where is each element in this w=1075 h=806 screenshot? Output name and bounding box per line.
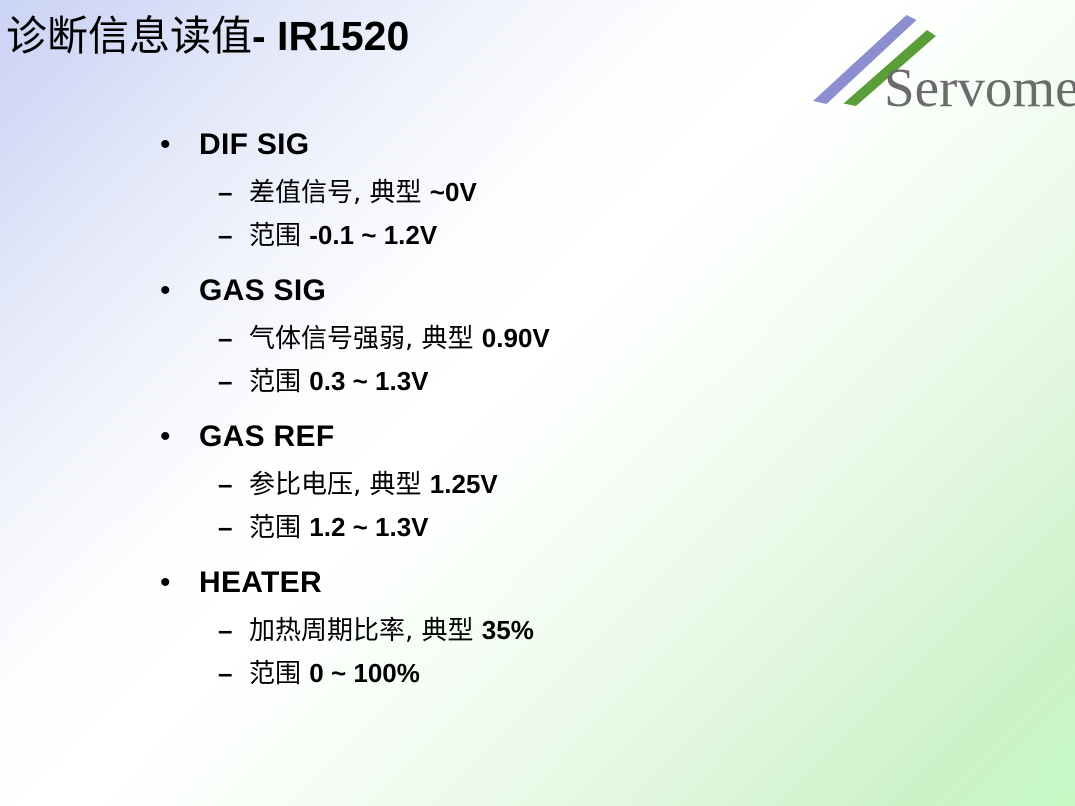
slide-canvas: 诊断信息读值- IR1520 Servomex • DIF SIG – 差值信号… [0, 0, 1075, 806]
sub-text-value: 1.2 ~ 1.3V [309, 512, 428, 542]
sub-text: 范围 0.3 ~ 1.3V [249, 361, 429, 398]
sub-text-value: 0 ~ 100% [309, 658, 420, 688]
sub-row: – 差值信号, 典型 ~0V [155, 172, 995, 215]
sub-text-chinese: 参比电压, 典型 [249, 470, 430, 500]
sub-text: 范围 -0.1 ~ 1.2V [249, 215, 437, 252]
sub-text: 气体信号强弱, 典型 0.90V [249, 318, 550, 355]
sub-dash-icon: – [218, 617, 249, 643]
sub-text-value: ~0V [430, 177, 477, 207]
sub-row: – 气体信号强弱, 典型 0.90V [155, 318, 995, 361]
sub-row: – 范围 -0.1 ~ 1.2V [155, 215, 995, 258]
sub-text-chinese: 范围 [249, 367, 309, 397]
page-title: 诊断信息读值- IR1520 [6, 6, 786, 68]
bullet-row: • GAS REF [155, 420, 995, 464]
sub-row: – 范围 0.3 ~ 1.3V [155, 361, 995, 404]
sub-text-value: -0.1 ~ 1.2V [309, 220, 437, 250]
bullet-label-heater: HEATER [199, 566, 322, 600]
bullet-group-gas-sig: • GAS SIG – 气体信号强弱, 典型 0.90V – 范围 0.3 ~ … [155, 274, 995, 404]
servomex-logo: Servomex [800, 12, 1075, 124]
sub-row: – 范围 0 ~ 100% [155, 653, 995, 696]
sub-row: – 范围 1.2 ~ 1.3V [155, 507, 995, 550]
bullet-dot-icon: • [155, 568, 199, 598]
bullet-label-gas-ref: GAS REF [199, 420, 334, 454]
sub-text-value: 35% [482, 615, 534, 645]
sub-dash-icon: – [218, 325, 249, 351]
sub-dash-icon: – [218, 471, 249, 497]
sub-text: 加热周期比率, 典型 35% [249, 610, 534, 647]
title-model: IR1520 [277, 13, 409, 59]
bullet-group-gas-ref: • GAS REF – 参比电压, 典型 1.25V – 范围 1.2 ~ 1.… [155, 420, 995, 550]
sub-text: 范围 1.2 ~ 1.3V [249, 507, 429, 544]
sub-text-value: 0.90V [482, 323, 550, 353]
bullet-content: • DIF SIG – 差值信号, 典型 ~0V – 范围 -0.1 ~ 1.2… [155, 128, 995, 696]
sub-text-chinese: 差值信号, 典型 [249, 178, 430, 208]
bullet-row: • GAS SIG [155, 274, 995, 318]
bullet-label-dif-sig: DIF SIG [199, 128, 309, 162]
sub-text: 范围 0 ~ 100% [249, 653, 420, 690]
sub-dash-icon: – [218, 514, 249, 540]
sub-text-chinese: 范围 [249, 513, 309, 543]
sub-text-value: 0.3 ~ 1.3V [309, 366, 428, 396]
sub-row: – 参比电压, 典型 1.25V [155, 464, 995, 507]
bullet-dot-icon: • [155, 276, 199, 306]
title-chinese: 诊断信息读值 [6, 12, 252, 60]
bullet-row: • HEATER [155, 566, 995, 610]
sub-text-chinese: 气体信号强弱, 典型 [249, 324, 482, 354]
logo-wordmark: Servomex [884, 57, 1075, 118]
title-text: 诊断信息读值- IR1520 [6, 15, 409, 58]
bullet-label-gas-sig: GAS SIG [199, 274, 326, 308]
sub-dash-icon: – [218, 222, 249, 248]
sub-text-chinese: 加热周期比率, 典型 [249, 616, 482, 646]
bullet-group-heater: • HEATER – 加热周期比率, 典型 35% – 范围 0 ~ 100% [155, 566, 995, 696]
sub-row: – 加热周期比率, 典型 35% [155, 610, 995, 653]
sub-dash-icon: – [218, 179, 249, 205]
title-separator: - [252, 13, 277, 59]
sub-dash-icon: – [218, 660, 249, 686]
bullet-row: • DIF SIG [155, 128, 995, 172]
bullet-group-dif-sig: • DIF SIG – 差值信号, 典型 ~0V – 范围 -0.1 ~ 1.2… [155, 128, 995, 258]
sub-text-value: 1.25V [430, 469, 498, 499]
sub-dash-icon: – [218, 368, 249, 394]
sub-text-chinese: 范围 [249, 659, 309, 689]
bullet-dot-icon: • [155, 130, 199, 160]
bullet-dot-icon: • [155, 422, 199, 452]
sub-text: 差值信号, 典型 ~0V [249, 172, 477, 209]
sub-text: 参比电压, 典型 1.25V [249, 464, 498, 501]
sub-text-chinese: 范围 [249, 221, 309, 251]
